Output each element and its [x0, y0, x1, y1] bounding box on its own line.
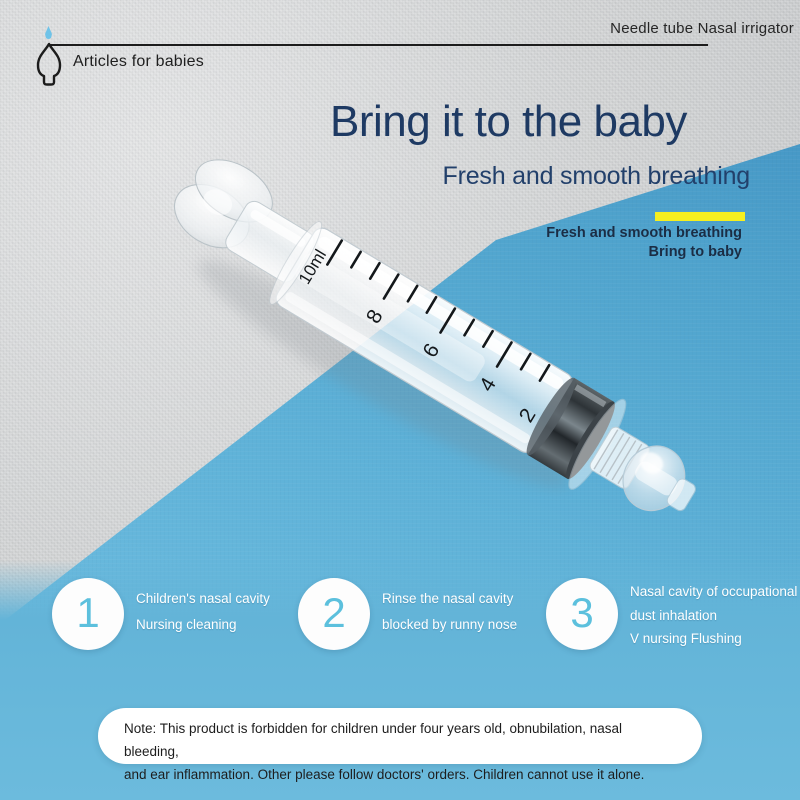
brand-logo: [26, 26, 72, 88]
header-divider-line: [48, 44, 708, 46]
page-subtitle: Fresh and smooth breathing: [330, 162, 750, 191]
step-3-line-2: dust inhalation: [630, 604, 800, 628]
step-badge-1: 1: [52, 578, 124, 650]
accent-bar: [655, 212, 745, 221]
step-badge-3: 3: [546, 578, 618, 650]
step-3-line-3: V nursing Flushing: [630, 627, 800, 651]
product-poster: Articles for babies Needle tube Nasal ir…: [0, 0, 800, 800]
dropper-bottle-icon: [34, 42, 64, 86]
note-line-2: and ear inflammation. Other please follo…: [124, 763, 676, 786]
water-droplet-icon: [45, 26, 52, 39]
step-number-2: 2: [322, 592, 345, 634]
slogan-line-1: Bring to baby: [430, 243, 742, 262]
step-badge-2: 2: [298, 578, 370, 650]
slogan-line-2: Fresh and smooth breathing: [430, 224, 742, 243]
slogan-block: Fresh and smooth breathing Bring to baby: [430, 224, 742, 262]
step-text-3: Nasal cavity of occupational dust inhala…: [630, 580, 800, 651]
brand-label: Articles for babies: [73, 53, 204, 71]
warning-note: Note: This product is forbidden for chil…: [98, 708, 702, 764]
product-kicker: Needle tube Nasal irrigator: [610, 20, 794, 37]
usage-steps: 1 Children's nasal cavity Nursing cleani…: [0, 578, 800, 688]
note-line-1: Note: This product is forbidden for chil…: [124, 717, 676, 763]
step-3-line-1: Nasal cavity of occupational: [630, 580, 800, 604]
step-number-1: 1: [76, 592, 99, 634]
step-number-3: 3: [570, 592, 593, 634]
page-title: Bring it to the baby: [330, 100, 750, 144]
